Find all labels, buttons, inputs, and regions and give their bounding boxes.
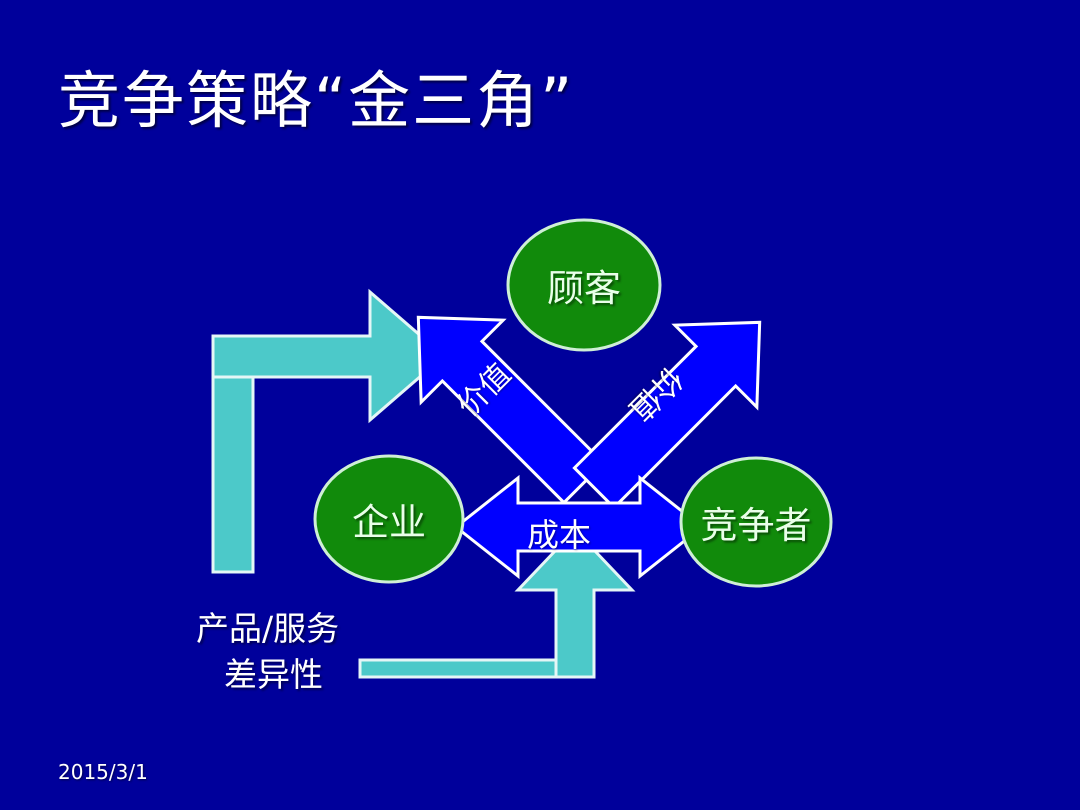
node-circle-enterprise[interactable] (315, 456, 463, 582)
teal-elbow-up-arrow (360, 660, 573, 677)
node-circle-competitor[interactable] (681, 458, 831, 586)
slide-canvas: 竞争策略“金三角” 顾客 企业 竞争者 价值 价值 成本 产品/服务 差异性 2… (0, 0, 1080, 810)
competition-triangle-diagram (0, 0, 1080, 810)
footer-date: 2015/3/1 (58, 760, 148, 784)
caption-differentiation: 差异性 (224, 648, 323, 696)
caption-product-service: 产品/服务 (196, 602, 339, 650)
node-circle-customer[interactable] (508, 220, 660, 350)
